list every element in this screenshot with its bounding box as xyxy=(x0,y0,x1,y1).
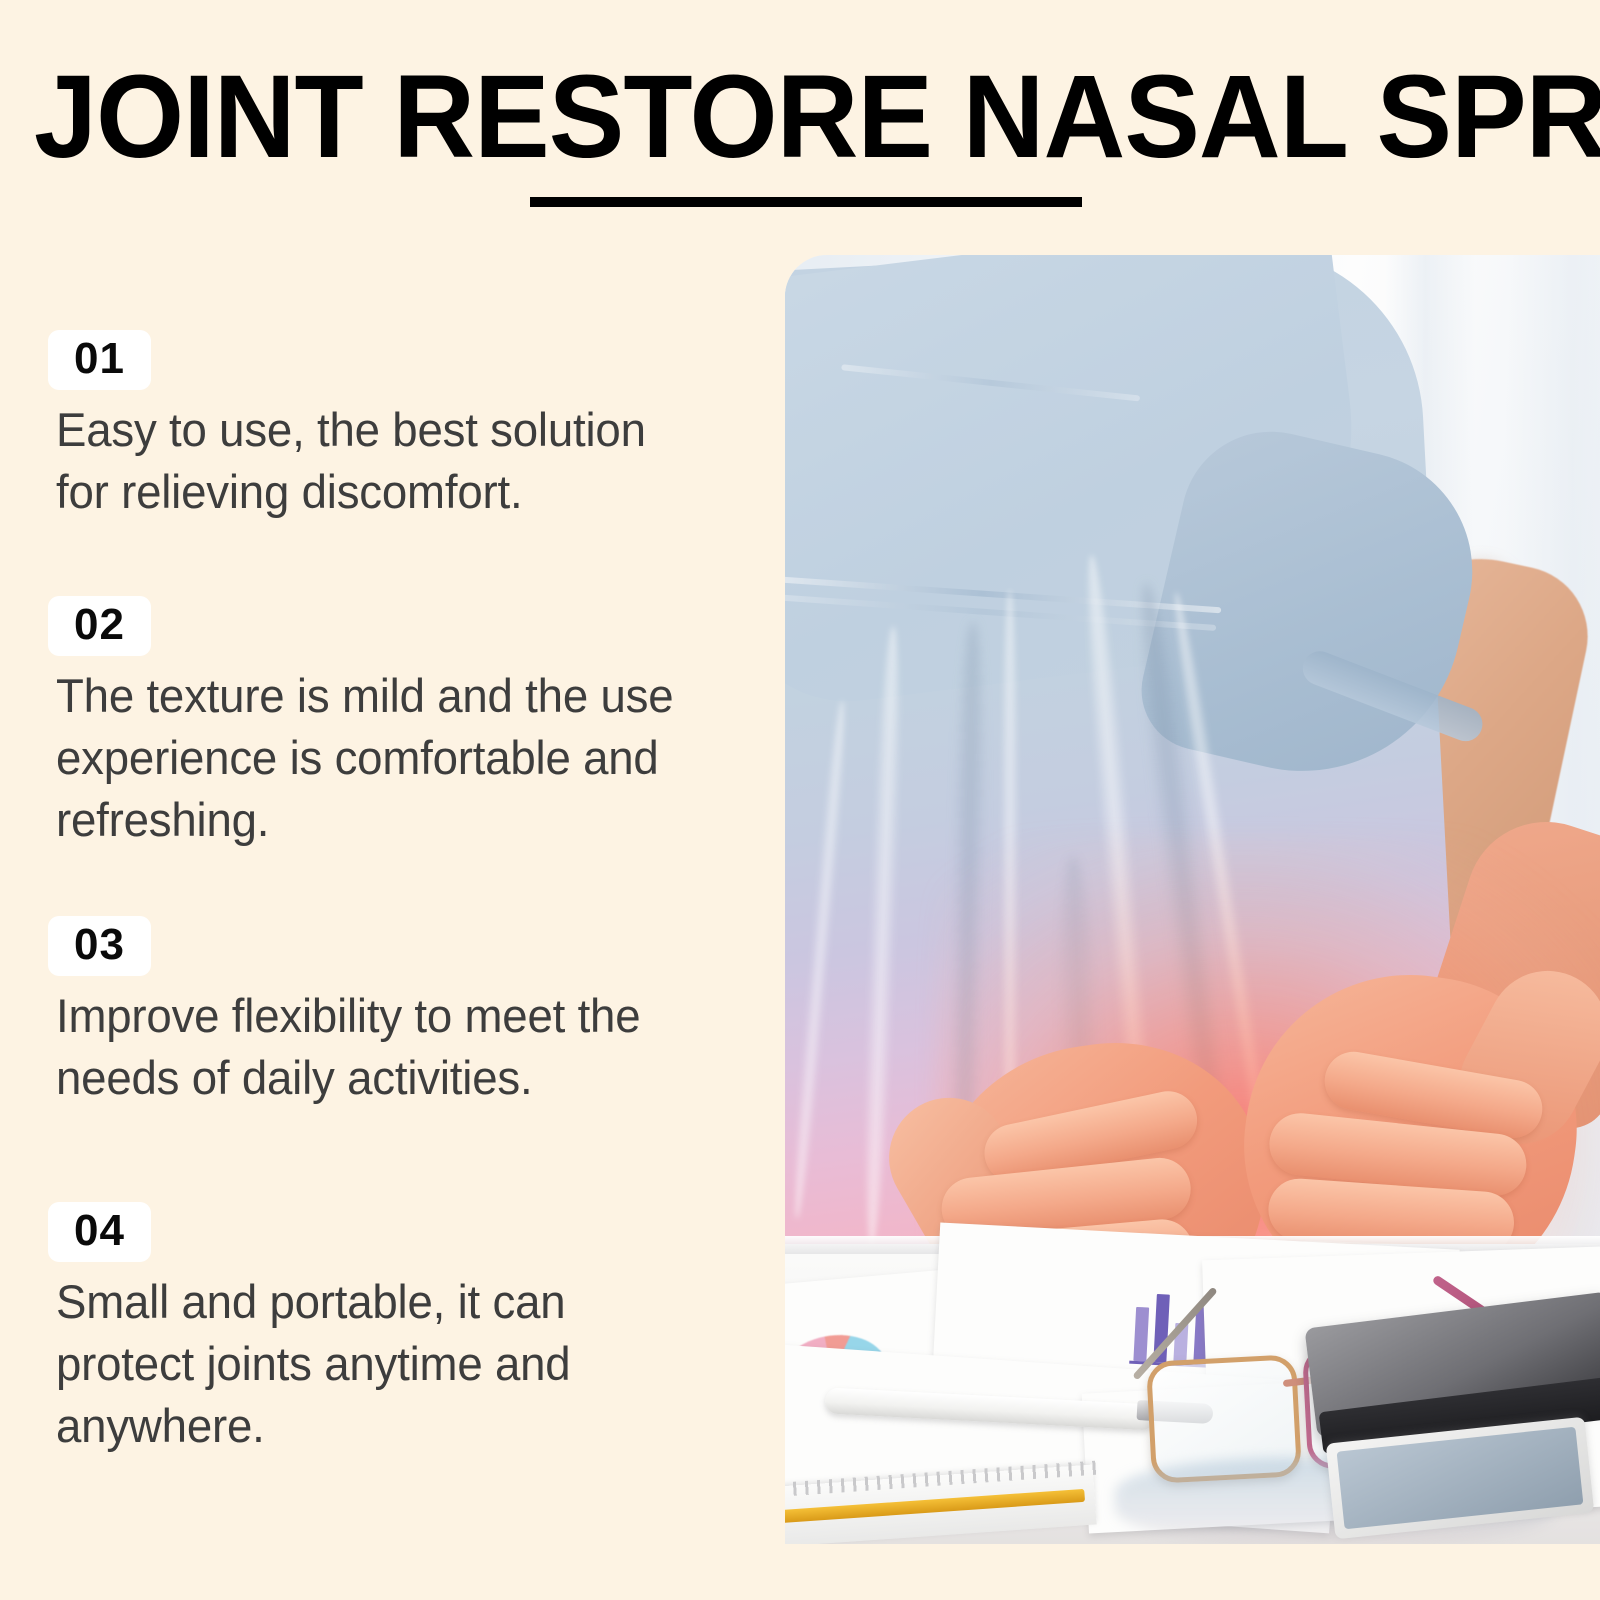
list-item: 01 Easy to use, the best solution for re… xyxy=(48,330,728,523)
feature-number-badge: 02 xyxy=(48,596,151,656)
fabric-fold xyxy=(788,700,851,1220)
feature-number-badge: 04 xyxy=(48,1202,151,1262)
title-underline-rule xyxy=(530,197,1082,207)
feature-number-badge: 03 xyxy=(48,916,151,976)
product-photo xyxy=(785,255,1600,1544)
feature-text: Easy to use, the best solution for relie… xyxy=(56,399,708,523)
tablet-screen xyxy=(1337,1427,1584,1530)
feature-text: The texture is mild and the use experien… xyxy=(56,665,708,851)
list-item: 03 Improve flexibility to meet the needs… xyxy=(48,916,728,1109)
desk-scene xyxy=(785,1244,1600,1544)
feature-text: Small and portable, it can protect joint… xyxy=(56,1271,708,1457)
list-item: 02 The texture is mild and the use exper… xyxy=(48,596,728,851)
feature-text: Improve flexibility to meet the needs of… xyxy=(56,985,708,1109)
page-title: JOINT RESTORE NASAL SPRAY xyxy=(34,58,1512,176)
feature-number-badge: 01 xyxy=(48,330,151,390)
list-item: 04 Small and portable, it can protect jo… xyxy=(48,1202,728,1457)
